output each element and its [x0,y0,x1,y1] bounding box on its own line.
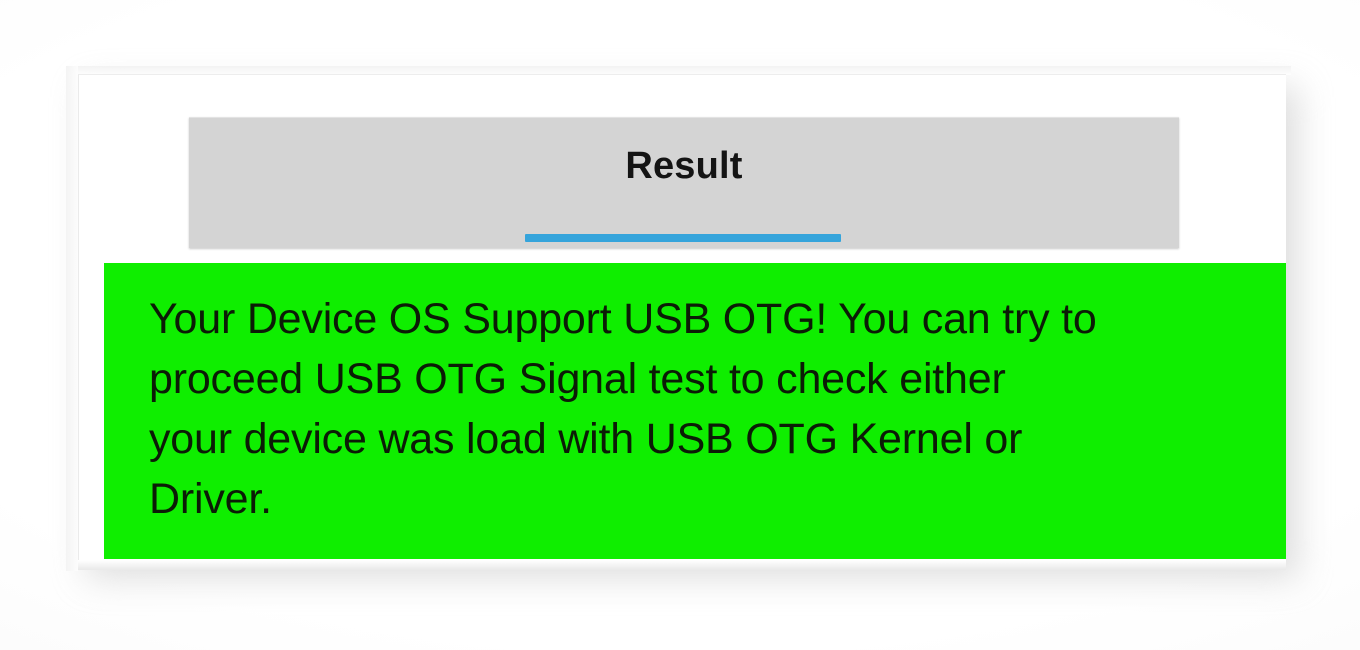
tab-strip: Result [79,75,1286,263]
card-edge-bottom [78,560,1286,570]
app-card: Result Your Device OS Support USB OTG! Y… [78,74,1286,569]
card-edge-left [66,66,78,571]
tab-result[interactable]: Result [189,117,1179,248]
tab-result-label: Result [189,147,1179,185]
result-panel: Your Device OS Support USB OTG! You can … [104,263,1286,559]
tab-selected-indicator [525,234,841,242]
result-message: Your Device OS Support USB OTG! You can … [149,289,1253,529]
